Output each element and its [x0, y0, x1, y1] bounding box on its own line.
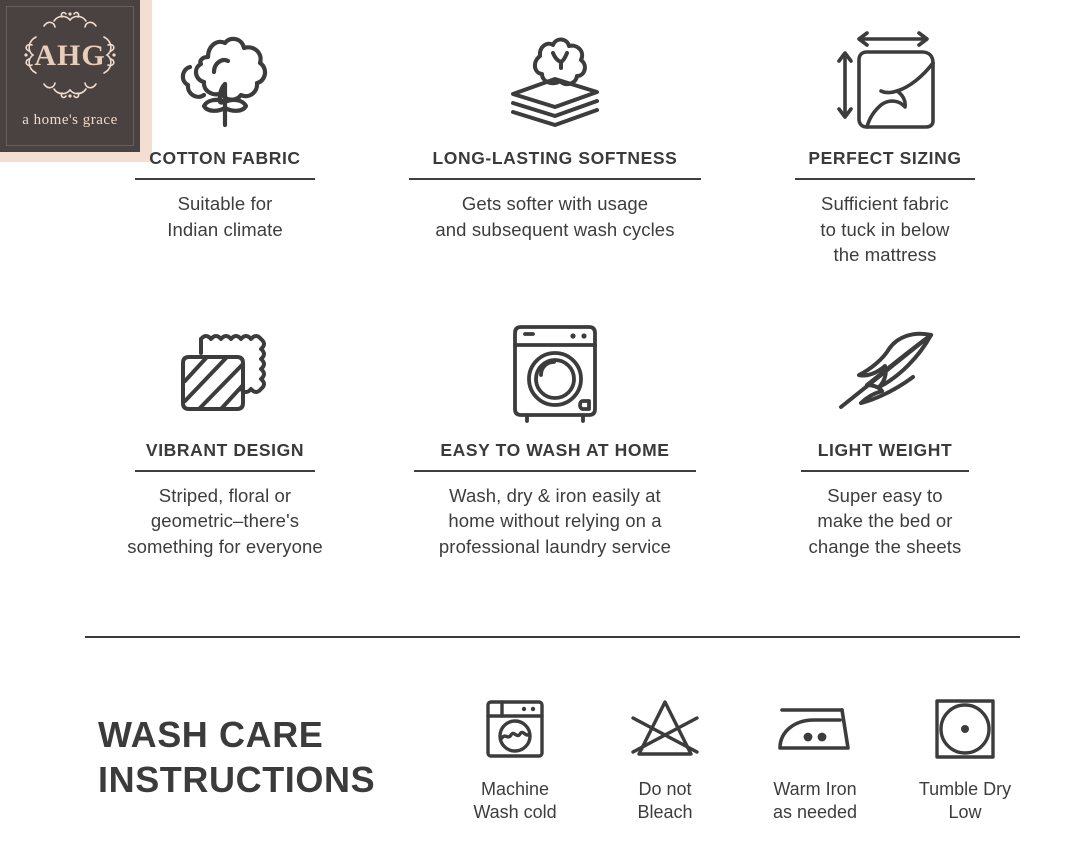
feature-description: Striped, floral orgeometric–there'ssomet…: [127, 483, 323, 560]
feature-title: VIBRANT DESIGN: [146, 440, 304, 461]
feature-cotton-fabric: COTTON FABRIC Suitable forIndian climate: [60, 18, 390, 268]
feature-divider: [135, 470, 315, 472]
sheet-dimensions-icon: [827, 18, 943, 140]
feature-divider: [409, 178, 701, 180]
feather-icon: [827, 310, 943, 432]
wash-care-label: MachineWash cold: [473, 778, 556, 825]
feature-description: Super easy tomake the bed orchange the s…: [809, 483, 962, 560]
wash-care-title: WASH CAREINSTRUCTIONS: [98, 712, 428, 802]
wash-care-item-warm-iron: Warm Ironas needed: [740, 690, 890, 825]
wash-care-label: Warm Ironas needed: [773, 778, 857, 825]
cotton-plant-icon: [170, 18, 280, 140]
feature-title: EASY TO WASH AT HOME: [440, 440, 669, 461]
washing-machine-icon: [505, 310, 605, 432]
feature-light-weight: LIGHT WEIGHT Super easy tomake the bed o…: [720, 310, 1050, 560]
feature-title: LIGHT WEIGHT: [818, 440, 953, 461]
feature-title: COTTON FABRIC: [149, 148, 300, 169]
feature-title: LONG-LASTING SOFTNESS: [432, 148, 677, 169]
wash-care-item-machine-wash: MachineWash cold: [440, 690, 590, 825]
feature-divider: [414, 470, 696, 472]
feature-divider: [795, 178, 975, 180]
stacked-fabric-layers-icon: [497, 18, 613, 140]
wash-care-item-tumble-dry: Tumble DryLow: [890, 690, 1040, 825]
feature-description: Gets softer with usageand subsequent was…: [435, 191, 674, 242]
feature-description: Wash, dry & iron easily athome without r…: [439, 483, 671, 560]
feature-easy-to-wash: EASY TO WASH AT HOME Wash, dry & iron ea…: [390, 310, 720, 560]
feature-vibrant-design: VIBRANT DESIGN Striped, floral orgeometr…: [60, 310, 390, 560]
section-divider: [85, 636, 1020, 638]
wash-care-symbol-list: MachineWash cold Do notBleach: [440, 690, 1060, 825]
wash-care-item-do-not-bleach: Do notBleach: [590, 690, 740, 825]
warm-iron-icon: [774, 690, 856, 768]
wash-care-label: Tumble DryLow: [919, 778, 1011, 825]
fabric-swatches-icon: [171, 310, 279, 432]
feature-row-2: VIBRANT DESIGN Striped, floral orgeometr…: [60, 310, 1050, 560]
feature-grid: COTTON FABRIC Suitable forIndian climate…: [60, 18, 1050, 559]
wash-care-section: WASH CAREINSTRUCTIONS MachineWash cold: [0, 690, 1088, 850]
wash-care-label: Do notBleach: [637, 778, 692, 825]
machine-wash-cold-icon: [480, 690, 550, 768]
tumble-dry-low-icon: [931, 690, 999, 768]
feature-description: Sufficient fabricto tuck in belowthe mat…: [820, 191, 949, 268]
feature-divider: [801, 470, 969, 472]
feature-title: PERFECT SIZING: [808, 148, 961, 169]
feature-divider: [135, 178, 315, 180]
do-not-bleach-icon: [627, 690, 703, 768]
feature-long-lasting-softness: LONG-LASTING SOFTNESS Gets softer with u…: [390, 18, 720, 268]
feature-row-1: COTTON FABRIC Suitable forIndian climate…: [60, 18, 1050, 268]
feature-description: Suitable forIndian climate: [167, 191, 283, 242]
feature-perfect-sizing: PERFECT SIZING Sufficient fabricto tuck …: [720, 18, 1050, 268]
